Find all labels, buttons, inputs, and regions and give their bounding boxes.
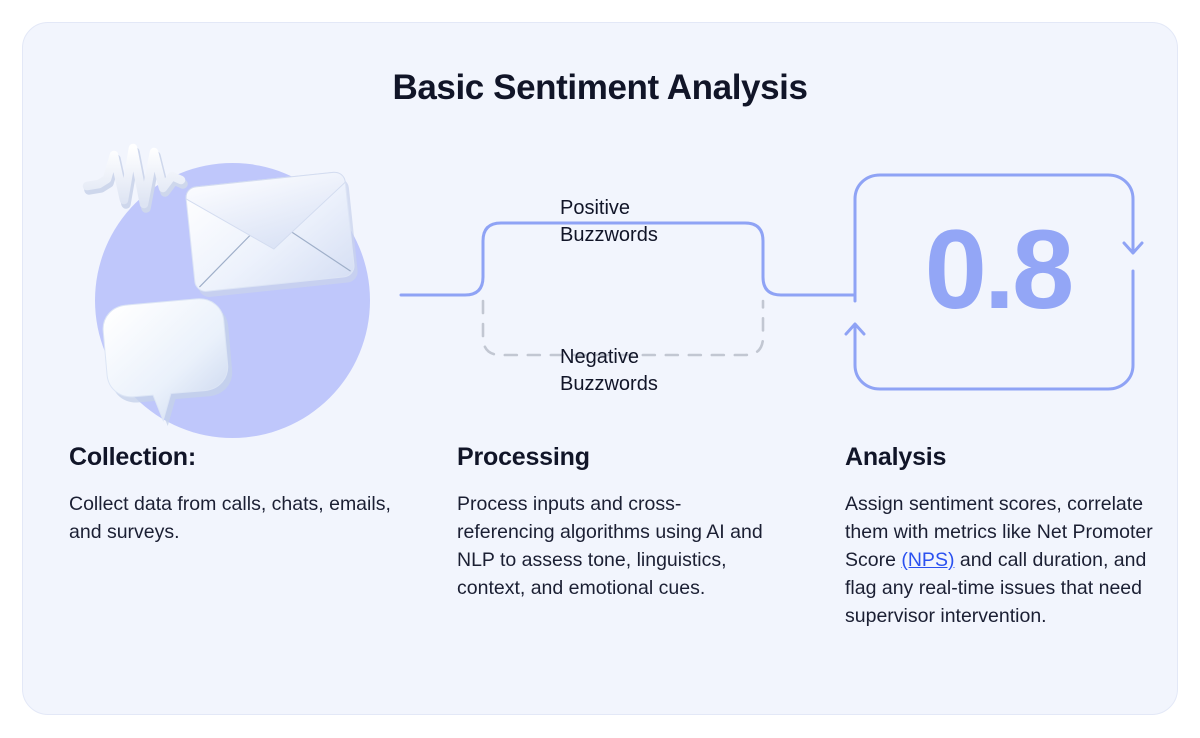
column-collection-body: Collect data from calls, chats, emails, … — [69, 490, 399, 546]
illustration-graphics — [77, 138, 367, 438]
positive-buzzwords-label: Positive Buzzwords — [560, 195, 658, 249]
waveform-icon — [87, 148, 183, 208]
column-collection: Collection: Collect data from calls, cha… — [69, 443, 399, 546]
column-analysis: Analysis Assign sentiment scores, correl… — [845, 443, 1165, 630]
sentiment-score-value: 0.8 — [873, 211, 1123, 329]
speech-bubble-icon — [101, 296, 236, 430]
nps-link[interactable]: (NPS) — [901, 549, 954, 571]
column-analysis-heading: Analysis — [845, 443, 1165, 472]
envelope-icon — [185, 171, 359, 298]
column-collection-heading: Collection: — [69, 443, 399, 472]
infographic-card: Basic Sentiment Analysis — [22, 22, 1178, 715]
negative-buzzwords-label: Negative Buzzwords — [560, 344, 658, 398]
column-processing-body: Process inputs and cross-referencing alg… — [457, 490, 777, 602]
diagram-stage: Positive Buzzwords Negative Buzzwords 0.… — [23, 123, 1177, 443]
column-processing-heading: Processing — [457, 443, 777, 472]
page-title: Basic Sentiment Analysis — [23, 68, 1177, 108]
sentiment-score-block: 0.8 — [833, 153, 1163, 413]
collection-illustration — [77, 138, 367, 428]
column-processing: Processing Process inputs and cross-refe… — [457, 443, 777, 602]
column-analysis-body: Assign sentiment scores, correlate them … — [845, 490, 1165, 630]
description-columns: Collection: Collect data from calls, cha… — [23, 443, 1177, 713]
flow-diagram: Positive Buzzwords Negative Buzzwords — [393, 123, 863, 443]
